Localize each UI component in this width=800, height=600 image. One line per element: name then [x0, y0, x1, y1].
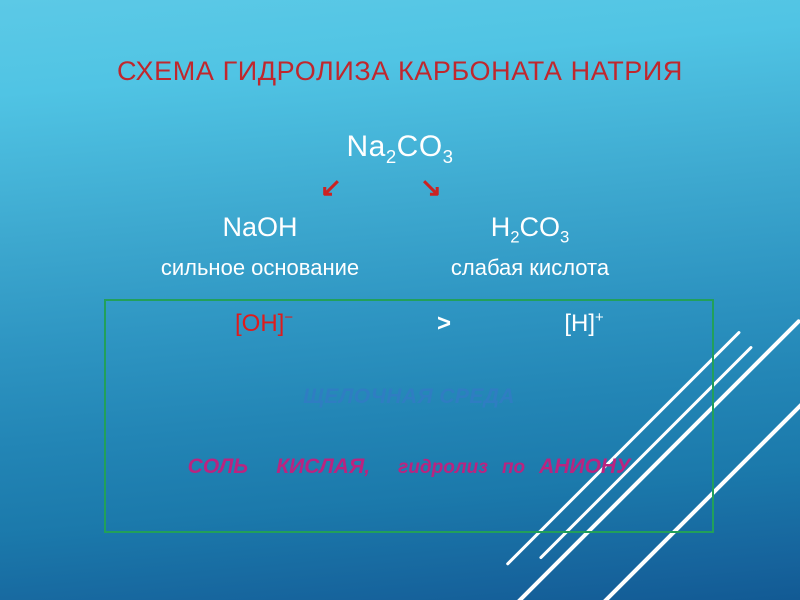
slide-canvas: СХЕМА ГИДРОЛИЗА КАРБОНАТА НАТРИЯ Na2CO3 … — [0, 0, 800, 600]
page-title: СХЕМА ГИДРОЛИЗА КАРБОНАТА НАТРИЯ — [0, 56, 800, 87]
product-descriptions-row: сильное основание слабая кислота — [0, 255, 800, 287]
product-formulas-row: NaOH H2CO3 — [0, 212, 800, 248]
arrow-down-right-icon: ↘ — [420, 174, 442, 200]
product-acid-description: слабая кислота — [400, 255, 660, 281]
verdict-part-anion: АНИОНУ — [539, 455, 630, 478]
verdict-part-acidic: КИСЛАЯ, — [276, 455, 370, 478]
arrow-down-left-icon: ↙ — [320, 174, 342, 200]
dissociation-arrows: ↙ ↘ — [0, 174, 800, 208]
product-base-description: сильное основание — [130, 255, 390, 281]
salt-formula-text: Na2CO3 — [346, 130, 453, 163]
hydroxide-ion-label: [OH]− — [204, 310, 324, 338]
product-acid-formula: H2CO3 — [400, 212, 660, 243]
verdict-part-salt: СОЛЬ — [188, 455, 249, 478]
greater-than-operator: > — [424, 310, 464, 338]
ion-comparison-row: [OH]− > [H]+ — [104, 310, 714, 344]
verdict-part-by: по — [502, 457, 525, 478]
medium-label: ЩЕЛОЧНАЯ СРЕДА — [104, 385, 714, 409]
verdict-part-hydrolysis: гидролиз — [398, 457, 488, 478]
hydrogen-ion-label: [H]+ — [524, 310, 644, 338]
product-base-formula: NaOH — [130, 212, 390, 243]
hydrolysis-verdict: СОЛЬКИСЛАЯ,гидролизпоАНИОНУ — [104, 455, 714, 479]
salt-formula: Na2CO3 — [0, 130, 800, 164]
